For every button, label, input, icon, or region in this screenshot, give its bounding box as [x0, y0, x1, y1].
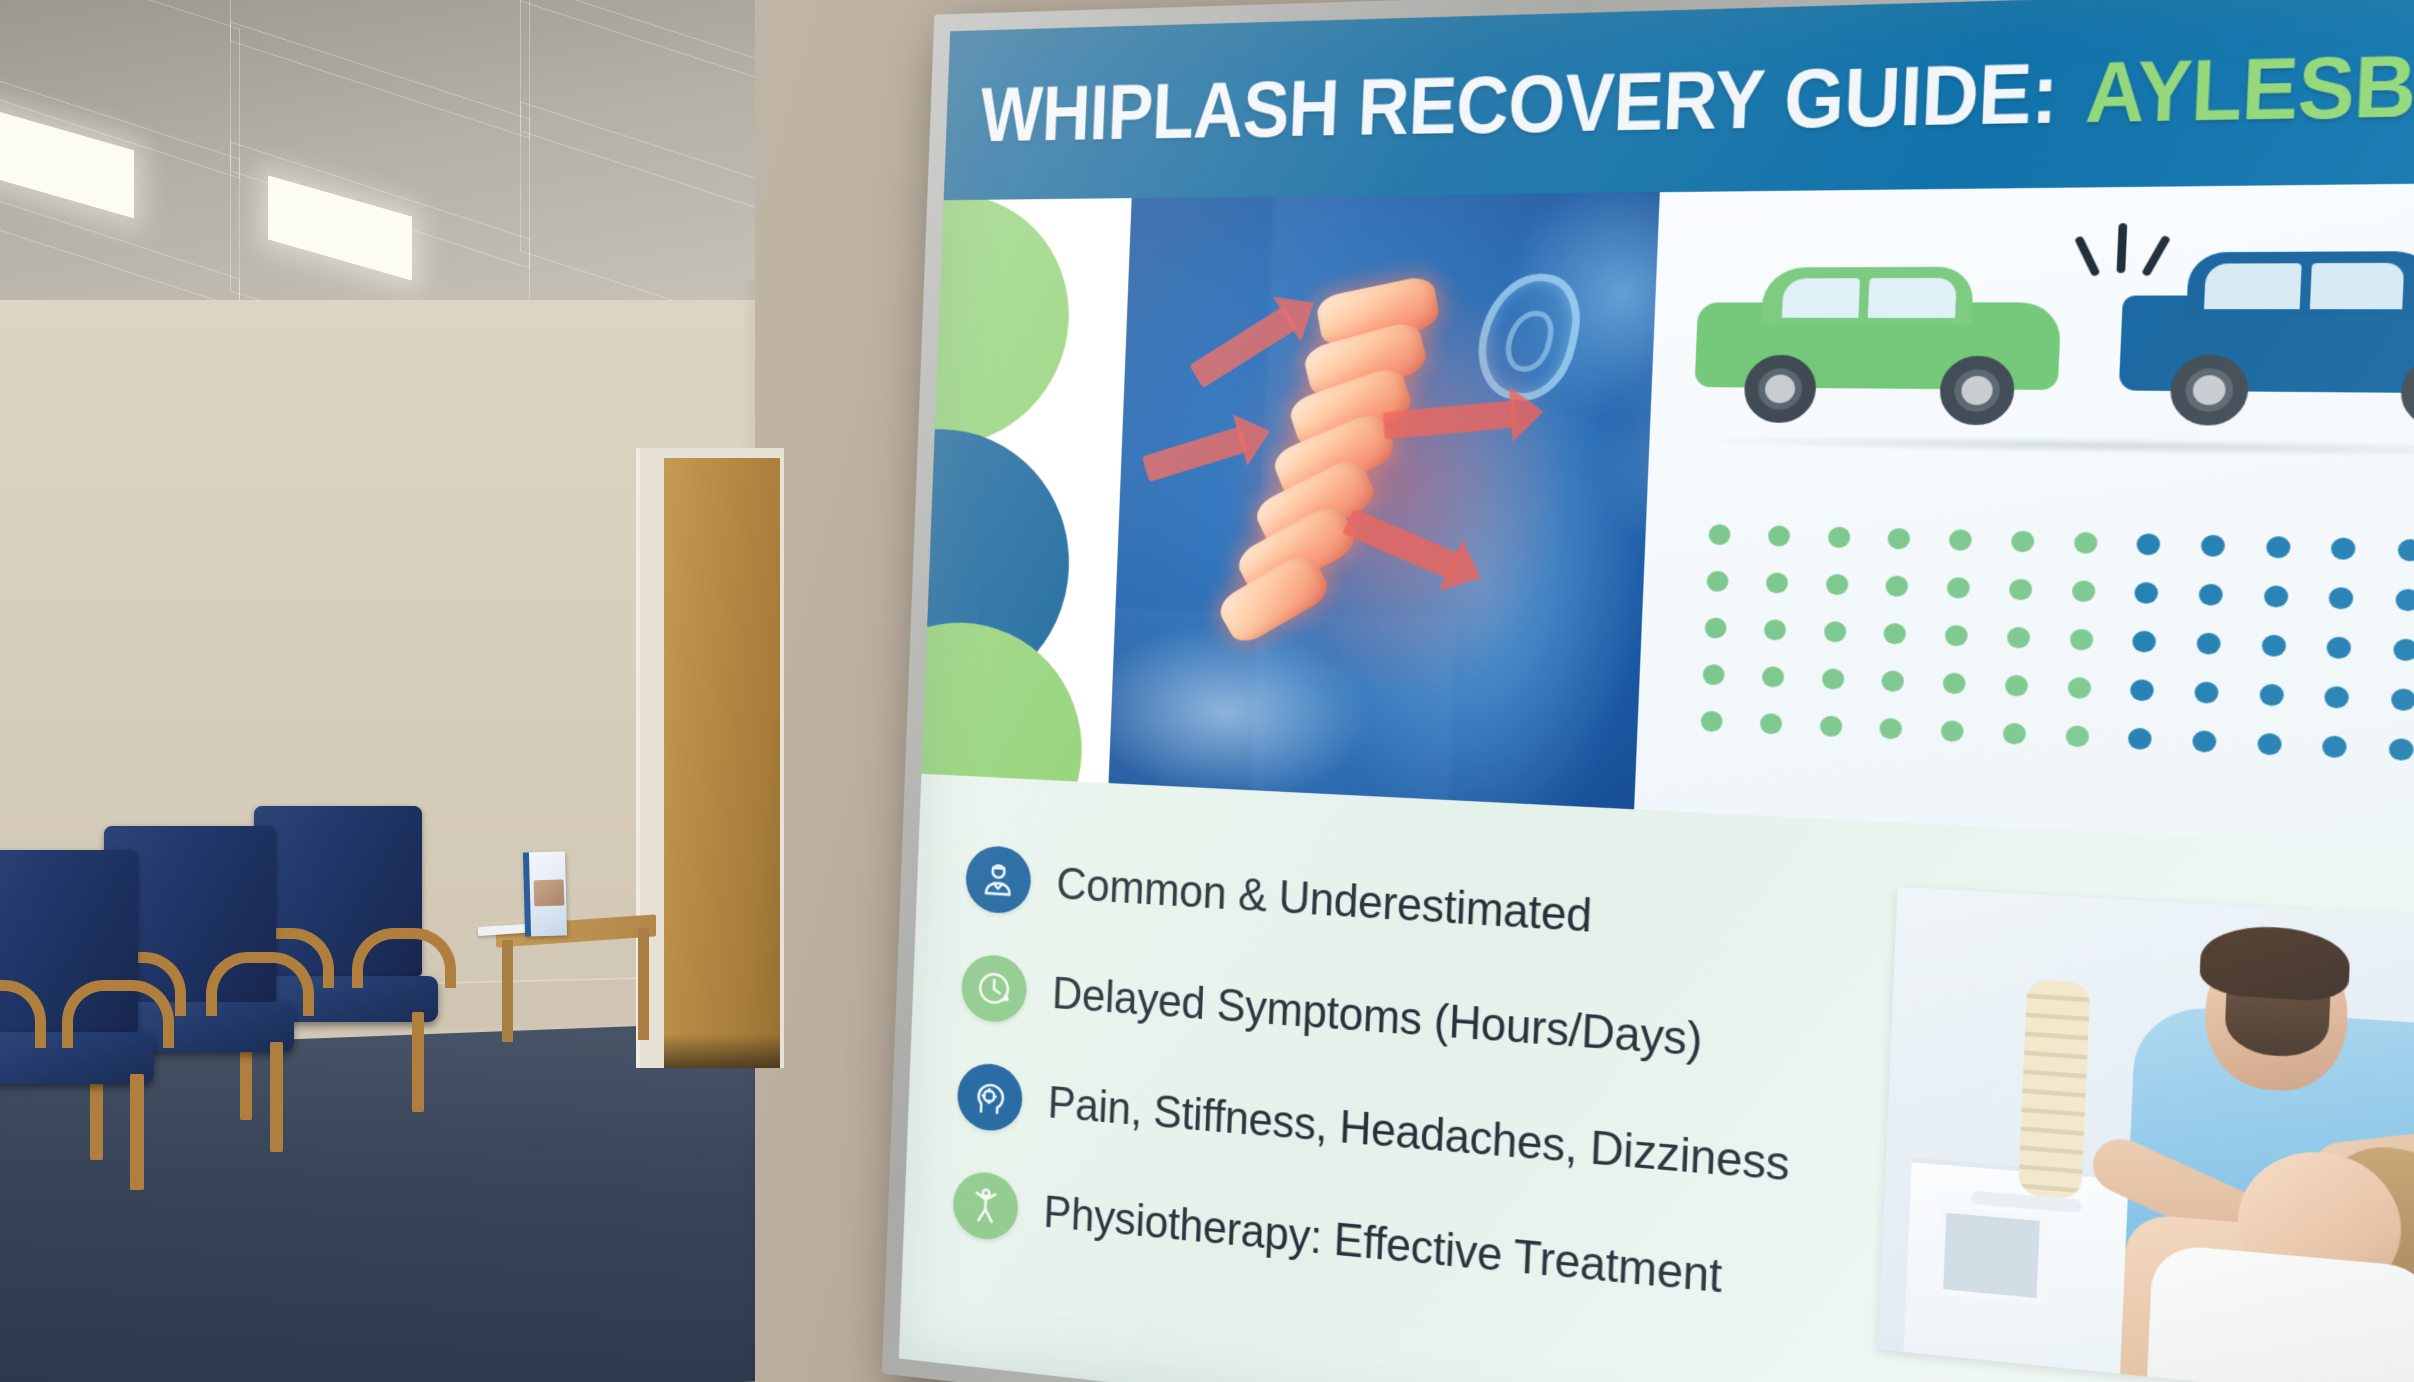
grid-dot — [2132, 630, 2156, 652]
grid-dot — [2257, 732, 2282, 755]
bullet-label: Pain, Stiffness, Headaches, Dizziness — [1047, 1076, 1791, 1193]
grid-dot — [1947, 576, 1971, 598]
grid-dot — [2199, 583, 2224, 605]
grid-dot — [1943, 672, 1967, 694]
grid-dot — [1880, 717, 1903, 739]
poster-title-accent: AYLESBURY — [2083, 32, 2414, 140]
bullet-label: Delayed Symptoms (Hours/Days) — [1051, 966, 1703, 1067]
grid-dot — [1827, 526, 1850, 547]
grid-dot — [2065, 725, 2089, 747]
grid-dot — [2261, 634, 2286, 657]
side-table-leg — [638, 928, 649, 1040]
grid-dot — [1819, 715, 1842, 737]
crash-and-dots-panel — [1634, 181, 2414, 858]
grid-dot — [1884, 622, 1907, 644]
grid-dot — [2069, 628, 2093, 650]
grid-dot — [1701, 710, 1723, 731]
stretching-person-icon — [952, 1170, 1019, 1243]
bullet-label: Physiotherapy: Effective Treatment — [1043, 1185, 1723, 1304]
bullet-label: Common & Underestimated — [1055, 857, 1592, 944]
circle-green-bottom-icon — [921, 619, 1086, 783]
chair-leg — [412, 1012, 424, 1112]
grid-dot — [2128, 727, 2152, 749]
grid-dot — [2329, 586, 2354, 609]
wheel — [1743, 355, 1817, 423]
grid-dot — [2398, 538, 2414, 561]
patient-top — [2147, 1244, 2414, 1382]
head-gear-icon — [956, 1061, 1023, 1133]
chair-armrest — [206, 952, 314, 1016]
grid-dot — [2395, 588, 2414, 611]
grid-dot — [1882, 670, 1905, 692]
grid-dot — [2067, 676, 2091, 698]
spine-anatomy-model — [2018, 979, 2090, 1200]
wall-mounted-poster[interactable]: WHIPLASH RECOVERY GUIDE:AYLESBURY — [882, 0, 2414, 1382]
grid-dot — [2071, 580, 2095, 602]
grid-dot — [2137, 533, 2161, 555]
therapist-hair — [2199, 923, 2351, 1003]
grid-dot — [2194, 681, 2219, 703]
grid-dot — [1888, 527, 1911, 549]
clinic-waiting-room-scene: WHIPLASH RECOVERY GUIDE:AYLESBURY — [0, 0, 2414, 1382]
grid-dot — [1762, 666, 1785, 688]
cervical-spine-whiplash-illustration — [1109, 192, 1660, 809]
grid-dot — [1709, 524, 1731, 545]
chair-armrest — [352, 928, 456, 988]
door-bottom-shadow — [664, 1034, 780, 1068]
rear-end-collision-illustration — [1648, 181, 2414, 480]
grid-dot — [1764, 619, 1787, 640]
grid-dot — [1823, 620, 1846, 642]
grid-dot — [2325, 685, 2350, 708]
grid-dot — [2393, 638, 2414, 661]
side-table-leg — [502, 940, 513, 1042]
grid-dot — [2201, 534, 2226, 556]
grid-dot — [2011, 530, 2035, 552]
grid-dot — [1945, 624, 1969, 646]
dot-grid-pattern — [1634, 464, 2414, 858]
grid-dot — [2007, 626, 2031, 648]
poster-bottom-band: Common & Underestimated — [899, 774, 2414, 1382]
grid-dot — [2331, 537, 2356, 559]
poster-title: WHIPLASH RECOVERY GUIDE:AYLESBURY — [979, 31, 2414, 159]
grid-dot — [1766, 572, 1789, 593]
grid-dot — [2389, 737, 2414, 760]
grid-dot — [2263, 585, 2288, 607]
grid-dot — [2259, 683, 2284, 706]
grid-dot — [1768, 525, 1791, 546]
wheel — [2169, 355, 2250, 426]
grid-dot — [2073, 531, 2097, 553]
poster-title-main: WHIPLASH RECOVERY GUIDE: — [979, 46, 2060, 158]
grid-dot — [2192, 730, 2217, 753]
blue-car — [2117, 243, 2414, 443]
poster-artwork: WHIPLASH RECOVERY GUIDE:AYLESBURY — [899, 0, 2414, 1382]
grid-dot — [2135, 581, 2159, 603]
grid-dot — [2002, 722, 2026, 744]
side-table — [496, 920, 656, 1040]
decorative-circles — [921, 198, 1131, 783]
grid-dot — [2009, 578, 2033, 600]
poster-bottom-band-wrap: Common & Underestimated — [899, 774, 2414, 1382]
grid-dot — [2266, 535, 2291, 557]
grid-dot — [2391, 688, 2414, 711]
grid-dot — [1705, 617, 1727, 638]
circle-green-top-icon — [921, 198, 1073, 447]
poster-frame: WHIPLASH RECOVERY GUIDE:AYLESBURY — [882, 0, 2414, 1382]
physiotherapy-neck-treatment-photo — [1878, 887, 2414, 1382]
interior-door[interactable] — [636, 448, 784, 1068]
grid-dot — [1760, 712, 1783, 734]
grid-dot — [1707, 570, 1729, 591]
grid-dot — [1703, 663, 1725, 684]
door-leaf — [664, 458, 780, 1068]
bullet-item-common[interactable]: Common & Underestimated — [965, 845, 1862, 969]
grid-dot — [1886, 575, 1909, 597]
brochure-stand[interactable] — [523, 851, 567, 936]
grid-dot — [1941, 720, 1965, 742]
grid-dot — [2327, 636, 2352, 659]
chair-leg — [270, 1042, 283, 1152]
grid-dot — [2196, 632, 2221, 654]
waiting-room-chair[interactable] — [0, 850, 178, 1200]
grid-dot — [1825, 573, 1848, 594]
poster-title-bar: WHIPLASH RECOVERY GUIDE:AYLESBURY — [944, 0, 2414, 200]
clock-icon — [960, 953, 1027, 1024]
drop-ceiling — [0, 0, 780, 330]
grid-dot — [2130, 679, 2154, 701]
brochure-photo — [534, 880, 565, 907]
grid-dot — [2322, 735, 2347, 758]
doctor-icon — [965, 845, 1032, 915]
green-car — [1693, 253, 2088, 433]
shelf-cubby — [1937, 1206, 2046, 1304]
poster-middle-band — [921, 181, 2414, 858]
grid-dot — [2005, 674, 2029, 696]
grid-dot — [1949, 529, 1973, 551]
bullet-item-delayed[interactable]: Delayed Symptoms (Hours/Days) — [960, 953, 1856, 1087]
bullet-list: Common & Underestimated — [952, 834, 1862, 1323]
chair-leg — [130, 1074, 144, 1190]
chair-armrest — [62, 980, 174, 1048]
wheel — [1939, 356, 2016, 426]
grid-dot — [1821, 668, 1844, 690]
